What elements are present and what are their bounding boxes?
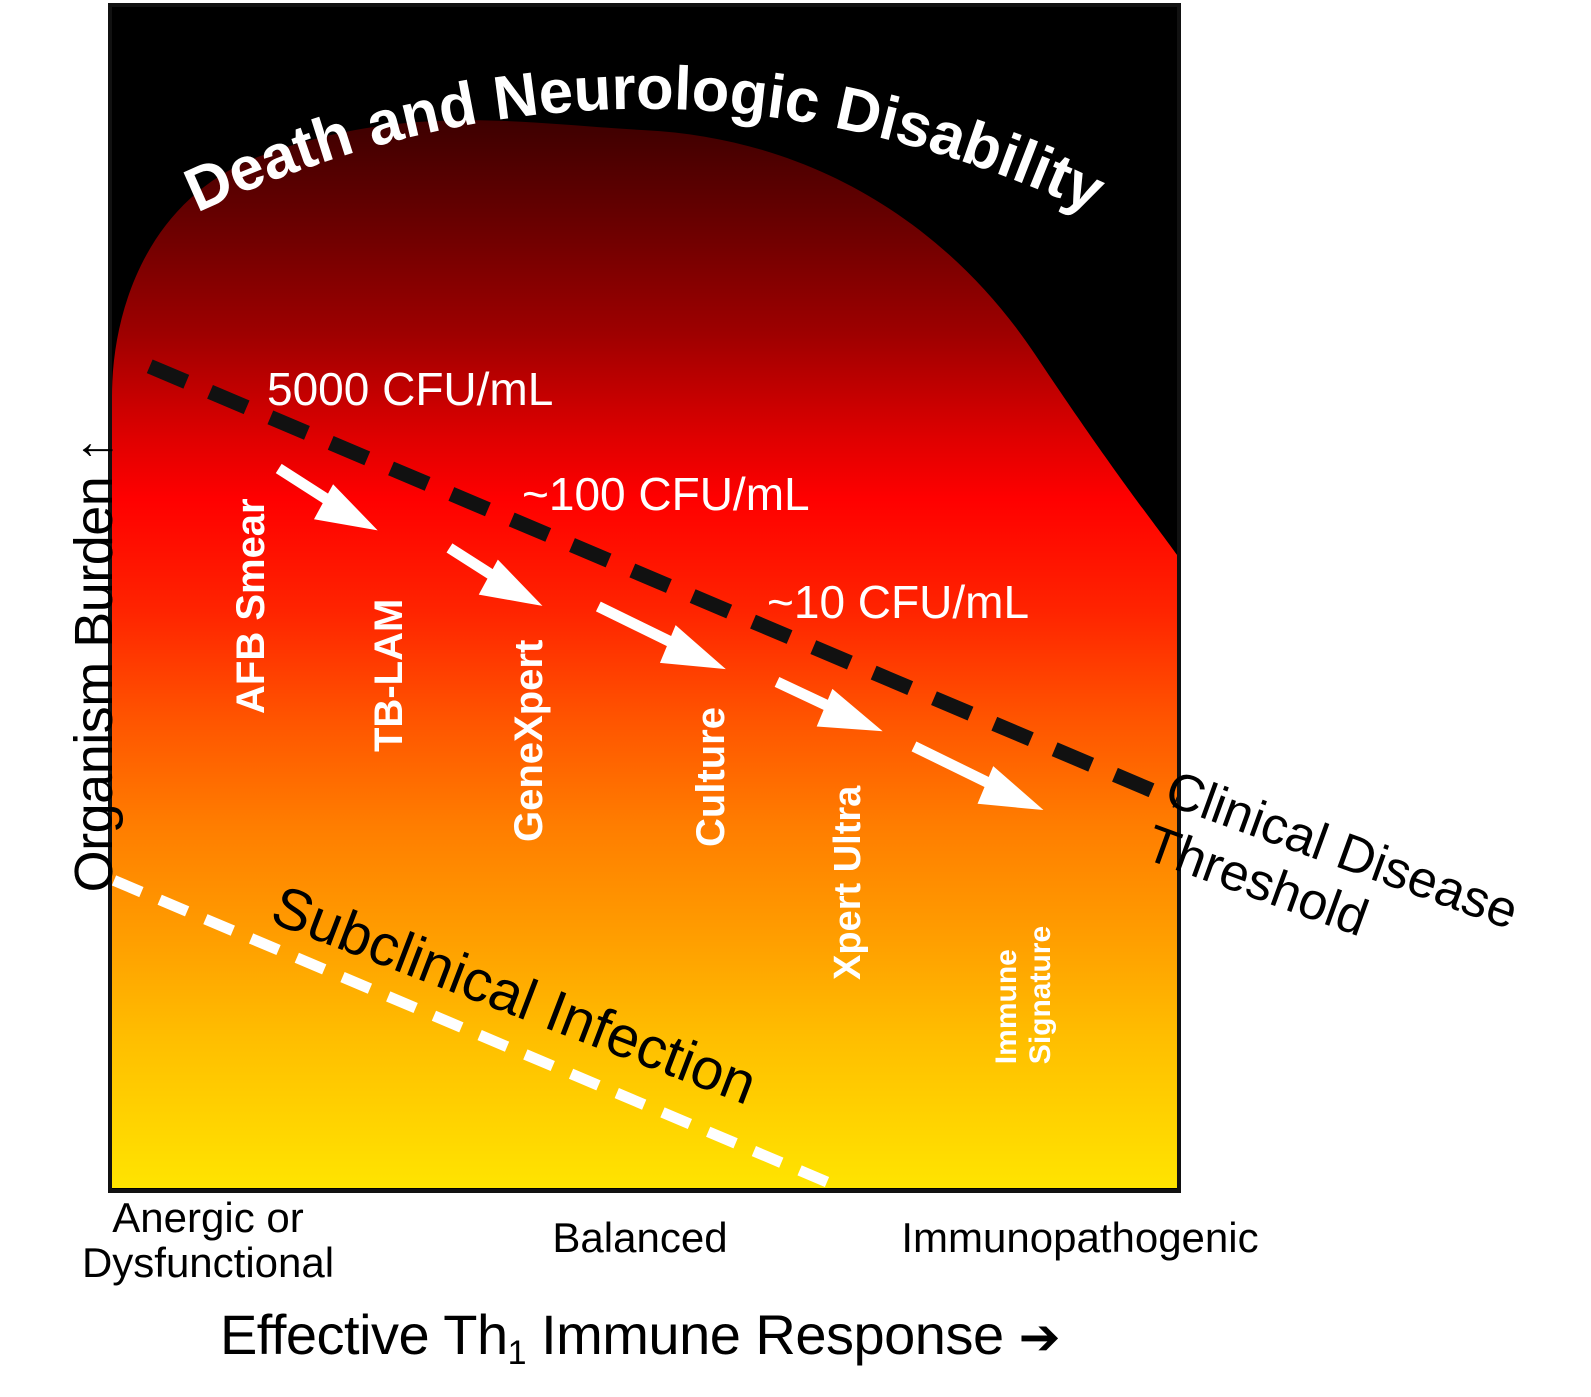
test-label-genexpert: GeneXpert bbox=[507, 640, 552, 842]
cfu-label-5000: 5000 CFU/mL bbox=[267, 362, 553, 416]
x-tick-anergic-line2: Dysfunctional bbox=[48, 1241, 368, 1286]
chart-plot-area: Death and Neurologic Disability bbox=[108, 3, 1181, 1193]
x-tick-immunopathogenic: Immunopathogenic bbox=[850, 1216, 1310, 1261]
x-tick-anergic-line1: Anergic or bbox=[48, 1196, 368, 1241]
test-label-tb-lam: TB-LAM bbox=[367, 599, 412, 752]
x-axis-title-suffix: Immune Response bbox=[526, 1303, 1019, 1366]
test-label-xpert-ultra: Xpert Ultra bbox=[827, 786, 870, 980]
x-axis-title-prefix: Effective Th bbox=[220, 1303, 508, 1366]
cfu-label-100: ~100 CFU/mL bbox=[522, 467, 810, 521]
test-label-culture: Culture bbox=[689, 707, 734, 847]
x-tick-balanced: Balanced bbox=[490, 1216, 790, 1261]
immune-signature-line1: Immune bbox=[990, 926, 1024, 1064]
clinical-disease-threshold-label: Clinical Disease Threshold bbox=[1138, 760, 1582, 1017]
x-tick-anergic-or-dysfunctional: Anergic or Dysfunctional bbox=[48, 1196, 368, 1285]
x-axis-arrow-icon: ➔ bbox=[1019, 1309, 1060, 1365]
y-axis-arrow-icon: ↑ bbox=[69, 438, 119, 463]
cfu-label-10: ~10 CFU/mL bbox=[767, 575, 1029, 629]
immune-signature-line2: Signature bbox=[1023, 926, 1057, 1064]
x-axis-title-subscript: 1 bbox=[508, 1334, 526, 1372]
test-label-afb-smear: AFB Smear bbox=[229, 498, 274, 714]
test-label-immune-signature: Immune Signature bbox=[990, 926, 1057, 1064]
y-axis: Organism Burden ↑ bbox=[59, 315, 129, 1015]
x-axis-title: Effective Th1 Immune Response ➔ bbox=[80, 1302, 1200, 1367]
y-axis-title: Organism Burden bbox=[63, 477, 125, 893]
